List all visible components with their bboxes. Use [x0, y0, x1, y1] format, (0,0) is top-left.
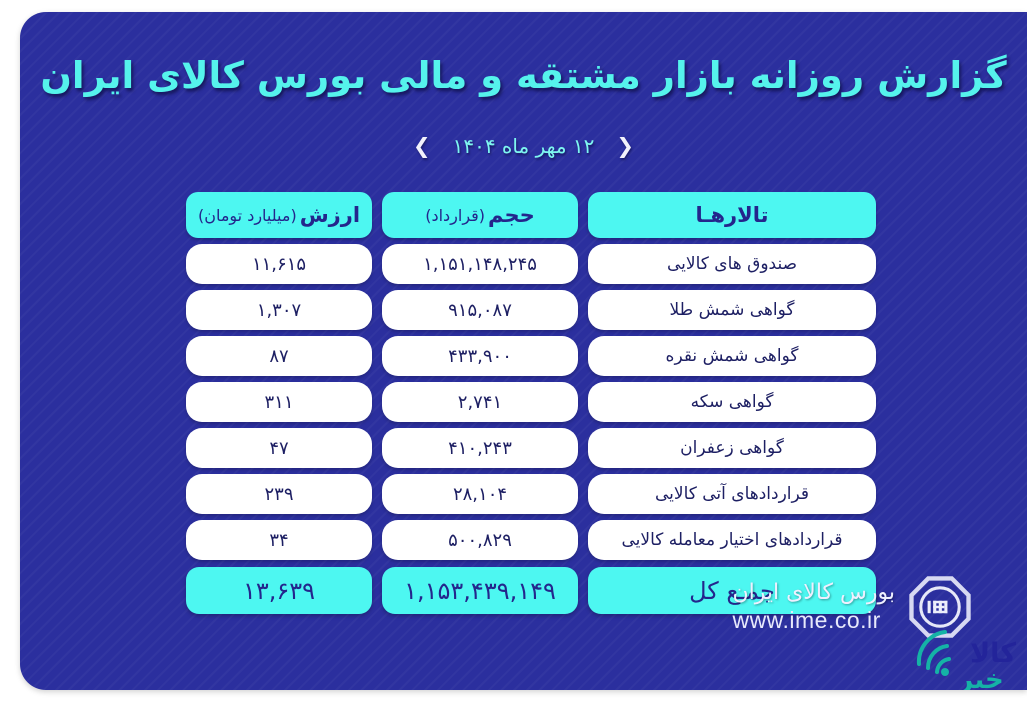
cell-hall: قراردادهای اختیار معامله کالایی — [588, 520, 876, 560]
cell-value: ۸۷ — [186, 336, 372, 376]
chevron-left-icon: ❯ — [413, 136, 431, 157]
table-row: قراردادهای آتی کالایی ۲۸,۱۰۴ ۲۳۹ — [196, 474, 876, 514]
table-row: صندوق های کالایی ۱,۱۵۱,۱۴۸,۲۴۵ ۱۱,۶۱۵ — [196, 244, 876, 284]
table-row: گواهی شمش طلا ۹۱۵,۰۸۷ ۱,۳۰۷ — [196, 290, 876, 330]
cell-value: ۱۱,۶۱۵ — [186, 244, 372, 284]
footer-url[interactable]: www.ime.co.ir — [732, 607, 895, 634]
cell-hall: گواهی شمش نقره — [588, 336, 876, 376]
cell-hall: گواهی سکه — [588, 382, 876, 422]
chevron-right-icon: ❮ — [616, 136, 634, 157]
main-panel: گزارش روزانه بازار مشتقه و مالی بورس کال… — [20, 12, 1027, 690]
infographic-root: گزارش روزانه بازار مشتقه و مالی بورس کال… — [0, 0, 1027, 720]
cell-volume: ۱,۱۵۱,۱۴۸,۲۴۵ — [382, 244, 578, 284]
table-header-row: تالارهـا حجم (قرارداد) ارزش (میلیارد توم… — [196, 192, 876, 238]
footer-brand: بورس کالای ایران — [732, 580, 895, 605]
column-header-volume: حجم (قرارداد) — [382, 192, 578, 238]
total-value: ۱۳,۶۳۹ — [186, 567, 372, 614]
cell-value: ۲۳۹ — [186, 474, 372, 514]
report-table: تالارهـا حجم (قرارداد) ارزش (میلیارد توم… — [196, 192, 876, 620]
date-subtitle: ❮ ۱۲ مهر ماه ۱۴۰۴ ❯ — [20, 134, 1027, 158]
report-date: ۱۲ مهر ماه ۱۴۰۴ — [453, 134, 595, 158]
table-row: قراردادهای اختیار معامله کالایی ۵۰۰,۸۲۹ … — [196, 520, 876, 560]
cell-value: ۴۷ — [186, 428, 372, 468]
total-volume: ۱,۱۵۳,۴۳۹,۱۴۹ — [382, 567, 578, 614]
cell-value: ۳۱۱ — [186, 382, 372, 422]
cell-hall: قراردادهای آتی کالایی — [588, 474, 876, 514]
table-row: گواهی سکه ۲,۷۴۱ ۳۱۱ — [196, 382, 876, 422]
table-row: گواهی شمش نقره ۴۳۳,۹۰۰ ۸۷ — [196, 336, 876, 376]
cell-value: ۳۴ — [186, 520, 372, 560]
cell-volume: ۴۳۳,۹۰۰ — [382, 336, 578, 376]
column-header-halls: تالارهـا — [588, 192, 876, 238]
footer-text-block: بورس کالای ایران www.ime.co.ir — [732, 580, 895, 633]
column-header-halls-label: تالارهـا — [695, 203, 768, 227]
cell-volume: ۴۱۰,۲۴۳ — [382, 428, 578, 468]
kala-khabar-watermark-icon: کالا خبر — [901, 602, 1019, 690]
column-header-value: ارزش (میلیارد تومان) — [186, 192, 372, 238]
cell-value: ۱,۳۰۷ — [186, 290, 372, 330]
page-title: گزارش روزانه بازار مشتقه و مالی بورس کال… — [20, 54, 1027, 97]
column-header-volume-label: حجم — [488, 203, 535, 227]
cell-hall: گواهی زعفران — [588, 428, 876, 468]
table-row: گواهی زعفران ۴۱۰,۲۴۳ ۴۷ — [196, 428, 876, 468]
cell-volume: ۹۱۵,۰۸۷ — [382, 290, 578, 330]
column-header-value-unit: (میلیارد تومان) — [198, 206, 297, 225]
column-header-value-label: ارزش — [300, 203, 360, 227]
column-header-volume-unit: (قرارداد) — [425, 206, 485, 225]
cell-volume: ۲,۷۴۱ — [382, 382, 578, 422]
cell-hall: گواهی شمش طلا — [588, 290, 876, 330]
cell-hall: صندوق های کالایی — [588, 244, 876, 284]
watermark-line2: خبر — [956, 665, 1004, 690]
cell-volume: ۲۸,۱۰۴ — [382, 474, 578, 514]
cell-volume: ۵۰۰,۸۲۹ — [382, 520, 578, 560]
